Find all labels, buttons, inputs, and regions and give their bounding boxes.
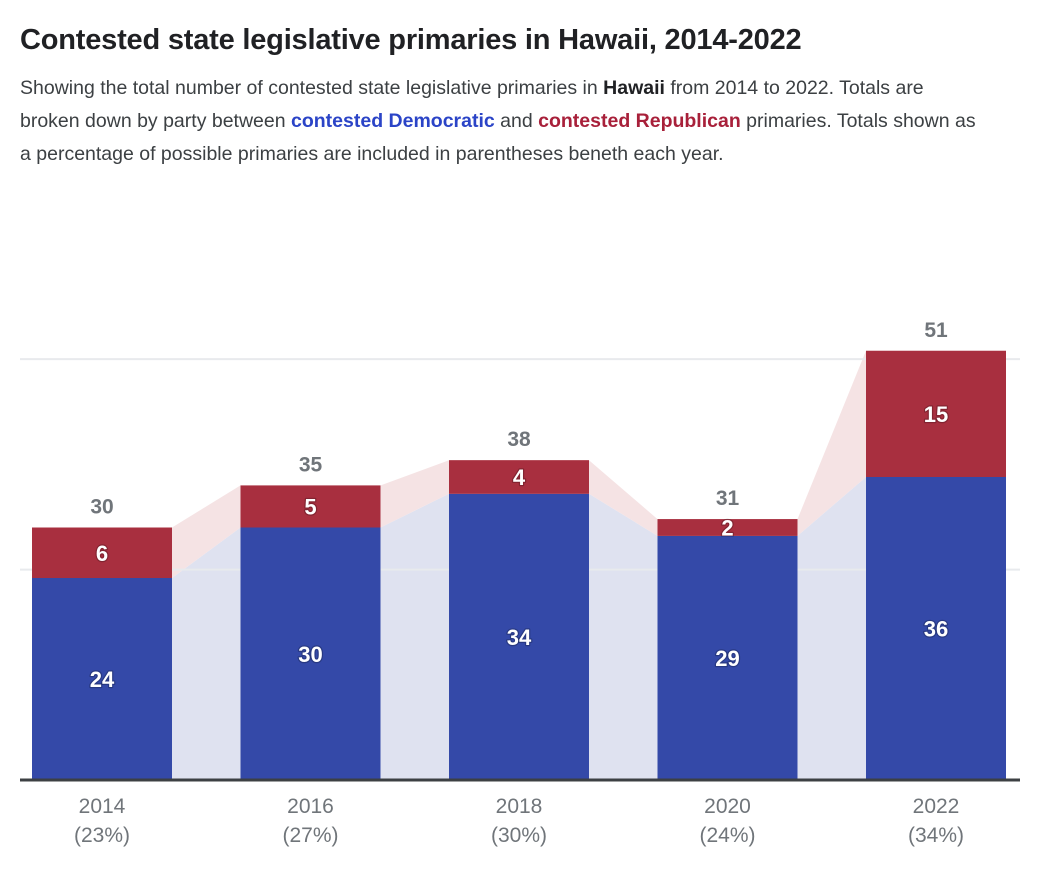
bar-total-label: 38 — [507, 428, 531, 451]
bar-total-label: 51 — [924, 319, 948, 342]
bar-value-label-democratic: 30 — [298, 642, 322, 667]
bar-value-label-democratic: 24 — [90, 667, 115, 692]
bar-value-label-republican: 2 — [721, 516, 733, 541]
subtitle-link-republican[interactable]: contested Republican — [538, 110, 741, 132]
chart-header: Contested state legislative primaries in… — [0, 0, 1040, 171]
bar-value-label-republican: 5 — [304, 494, 316, 519]
subtitle-text-3: and — [495, 110, 538, 132]
subtitle-text-1: Showing the total number of contested st… — [20, 77, 603, 99]
subtitle-link-democratic[interactable]: contested Democratic — [291, 110, 495, 132]
chart-plot-area: 30624355303843431229511536 2014(23%)2016… — [0, 228, 1040, 890]
x-tick-label-percent: (27%) — [282, 824, 338, 847]
x-tick-label-year: 2020 — [704, 795, 751, 818]
x-tick-label-percent: (24%) — [699, 824, 755, 847]
chart-subtitle: Showing the total number of contested st… — [0, 58, 1002, 171]
bar-value-label-democratic: 29 — [715, 646, 739, 671]
stacked-bar-chart-svg: 30624355303843431229511536 2014(23%)2016… — [0, 228, 1040, 890]
bar-value-label-republican: 4 — [513, 465, 526, 490]
x-tick-label-percent: (34%) — [908, 824, 964, 847]
x-tick-label-percent: (23%) — [74, 824, 130, 847]
x-tick-label-percent: (30%) — [491, 824, 547, 847]
x-tick-label-year: 2016 — [287, 795, 334, 818]
bar-total-label: 30 — [90, 496, 113, 519]
subtitle-state-name: Hawaii — [603, 77, 665, 99]
chart-page: Contested state legislative primaries in… — [0, 0, 1040, 890]
bar-value-label-republican: 15 — [924, 402, 948, 427]
x-tick-label-year: 2018 — [496, 795, 543, 818]
bar-value-label-republican: 6 — [96, 541, 108, 566]
x-tick-label-year: 2022 — [913, 795, 960, 818]
x-axis-ticks-layer: 2014(23%)2016(27%)2018(30%)2020(24%)2022… — [74, 795, 964, 847]
bar-total-label: 31 — [716, 487, 740, 510]
page-title: Contested state legislative primaries in… — [0, 0, 1040, 58]
bar-value-label-democratic: 34 — [507, 625, 532, 650]
x-tick-label-year: 2014 — [79, 795, 126, 818]
bar-value-label-democratic: 36 — [924, 617, 948, 642]
bar-total-label: 35 — [299, 453, 323, 476]
